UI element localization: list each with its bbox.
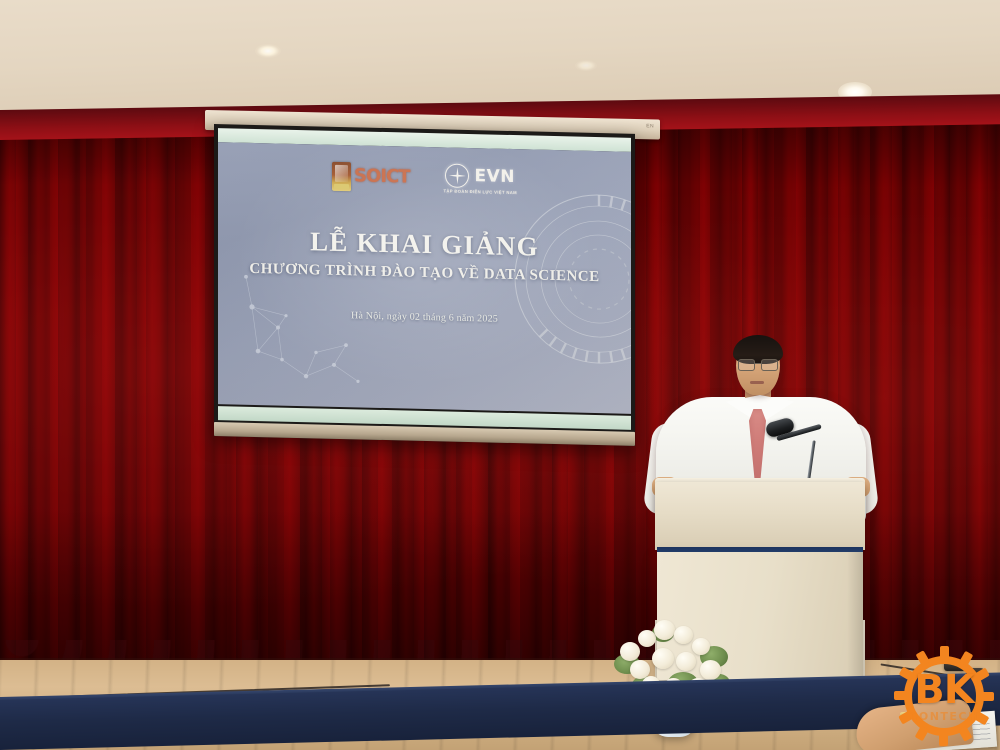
speaker-mouth bbox=[750, 381, 764, 384]
curtain-fold bbox=[966, 118, 988, 678]
soict-badge-icon bbox=[332, 161, 351, 190]
projection-screen: SOICT EVN TẬP ĐOÀN ĐIỆN LỰC VIỆT NAM LỄ … bbox=[214, 124, 635, 446]
eyeglasses-icon bbox=[738, 359, 778, 369]
evn-star-icon bbox=[445, 163, 469, 188]
slide-logo-row: SOICT EVN TẬP ĐOÀN ĐIỆN LỰC VIỆT NAM bbox=[218, 158, 631, 198]
bk-watermark-subtext: CONTECH bbox=[892, 710, 996, 723]
curtain-fold bbox=[175, 118, 191, 678]
curtain-fold bbox=[934, 118, 950, 678]
curtain-fold bbox=[28, 118, 50, 678]
curtain-fold bbox=[870, 118, 892, 678]
curtain-fold bbox=[115, 118, 137, 678]
photo-scene: EN bbox=[0, 0, 1000, 750]
evn-subtitle: TẬP ĐOÀN ĐIỆN LỰC VIỆT NAM bbox=[444, 188, 517, 195]
curtain-fold bbox=[58, 118, 80, 678]
screen-brand-label: EN bbox=[646, 123, 654, 129]
curtain-fold bbox=[86, 118, 102, 678]
ceiling-light-icon bbox=[255, 44, 281, 58]
curtain-fold bbox=[146, 118, 168, 678]
ceiling-light-icon bbox=[575, 60, 597, 71]
curtain-fold bbox=[0, 118, 16, 678]
bk-watermark-text: BK bbox=[892, 670, 996, 710]
evn-wordmark: EVN bbox=[474, 166, 515, 187]
soict-wordmark: SOICT bbox=[354, 167, 409, 186]
bk-watermark: BK CONTECH bbox=[892, 644, 996, 748]
presentation-slide: SOICT EVN TẬP ĐOÀN ĐIỆN LỰC VIỆT NAM LỄ … bbox=[218, 142, 631, 414]
curtain-fold bbox=[902, 118, 924, 678]
soict-logo: SOICT bbox=[332, 161, 409, 192]
podium-top-panel bbox=[655, 482, 865, 550]
evn-logo: EVN TẬP ĐOÀN ĐIỆN LỰC VIỆT NAM bbox=[444, 163, 517, 195]
